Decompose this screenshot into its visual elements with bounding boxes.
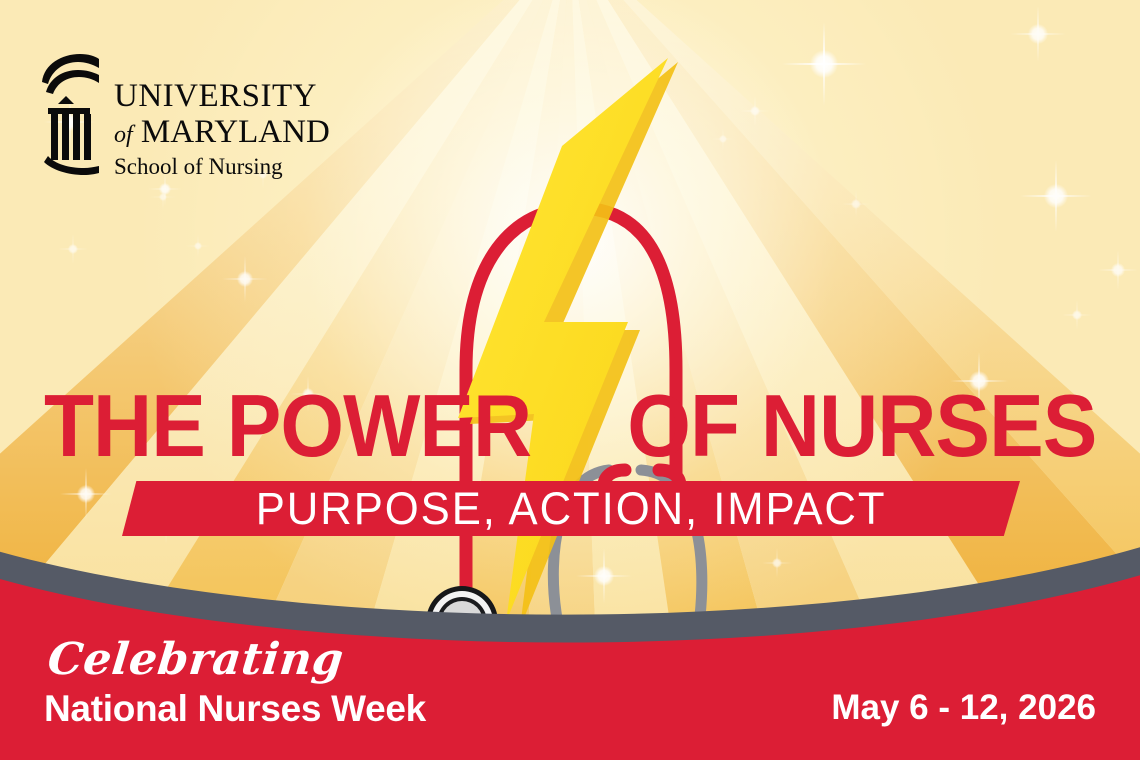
logo-of: of xyxy=(114,122,133,148)
logo-line-university: UNIVERSITY xyxy=(114,80,330,113)
logo-line-maryland: of MARYLAND xyxy=(114,113,330,151)
logo-line-school: School of Nursing xyxy=(114,151,330,182)
celebrating-script: Celebrating xyxy=(45,634,346,685)
event-dates: May 6 - 12, 2026 xyxy=(831,688,1096,728)
tagline-banner: PURPOSE, ACTION, IMPACT xyxy=(122,481,1020,536)
nurses-week-poster: UNIVERSITY of MARYLAND School of Nursing… xyxy=(0,0,1140,760)
umsn-logo[interactable]: UNIVERSITY of MARYLAND School of Nursing xyxy=(38,52,330,182)
logo-wordmark: UNIVERSITY of MARYLAND School of Nursing xyxy=(114,52,330,182)
tagline-text: PURPOSE, ACTION, IMPACT xyxy=(256,483,887,535)
logo-maryland: MARYLAND xyxy=(141,114,330,150)
event-title: National Nurses Week xyxy=(44,688,426,730)
umd-column-seal-icon xyxy=(38,52,100,178)
lightning-bolt xyxy=(458,58,678,628)
